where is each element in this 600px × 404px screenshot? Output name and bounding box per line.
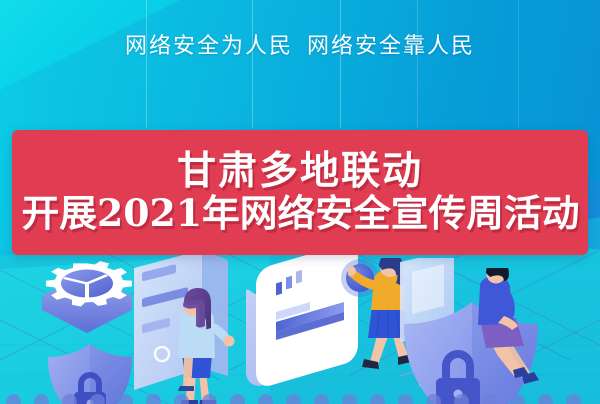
slogan-part-1: 网络安全为人民 bbox=[125, 34, 293, 59]
guide-line-4 bbox=[417, 0, 418, 128]
guide-line-3 bbox=[340, 0, 341, 128]
title-banner: 甘肃多地联动 开展2021年网络安全宣传周活动 bbox=[12, 130, 588, 255]
slogan-part-2: 网络安全靠人民 bbox=[307, 34, 475, 59]
headline-line-1: 甘肃多地联动 bbox=[177, 151, 423, 192]
headline-line-2: 开展2021年网络安全宣传周活动 bbox=[21, 194, 579, 234]
poster-root: 网络安全为人民网络安全靠人民 甘肃多地联动 开展2021年网络安全宣传周活动 bbox=[0, 0, 600, 404]
title-banner-inner: 甘肃多地联动 开展2021年网络安全宣传周活动 bbox=[12, 130, 588, 255]
guide-line-1 bbox=[146, 0, 147, 128]
background-lower-left bbox=[0, 252, 270, 404]
guide-line-2 bbox=[252, 0, 253, 128]
guide-line-5 bbox=[518, 0, 519, 128]
top-slogan: 网络安全为人民网络安全靠人民 bbox=[0, 28, 600, 60]
